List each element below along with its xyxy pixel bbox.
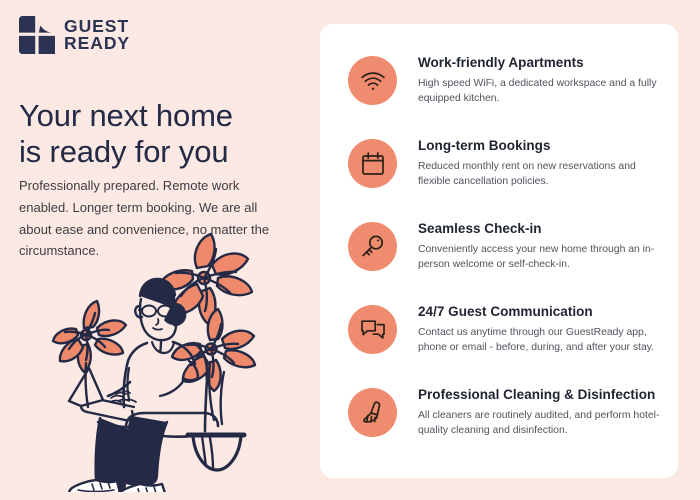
feature-item-work-friendly-apartments[interactable]: Work-friendly Apartments High speed WiFi… bbox=[348, 54, 660, 106]
wifi-icon bbox=[348, 56, 397, 105]
feature-title: 24/7 Guest Communication bbox=[418, 304, 660, 321]
feature-title: Long-term Bookings bbox=[418, 138, 660, 155]
left-column: GUEST READY Your next home is ready for … bbox=[0, 0, 320, 500]
headline-line-1: Your next home bbox=[19, 98, 233, 133]
woman-working-on-laptop-with-plants-illustration bbox=[34, 222, 319, 492]
feature-text: Long-term Bookings Reduced monthly rent … bbox=[418, 137, 660, 189]
feature-description: All cleaners are routinely audited, and … bbox=[418, 408, 666, 438]
feature-title: Work-friendly Apartments bbox=[418, 55, 660, 72]
feature-text: Work-friendly Apartments High speed WiFi… bbox=[418, 54, 660, 106]
feature-description: Contact us anytime through our GuestRead… bbox=[418, 325, 660, 355]
calendar-icon bbox=[348, 139, 397, 188]
brand-logo[interactable]: GUEST READY bbox=[19, 16, 130, 54]
feature-item-long-term-bookings[interactable]: Long-term Bookings Reduced monthly rent … bbox=[348, 137, 660, 189]
brand-wordmark: GUEST READY bbox=[64, 18, 130, 53]
promo-page: GUEST READY Your next home is ready for … bbox=[0, 0, 700, 500]
brand-line-2: READY bbox=[64, 35, 130, 53]
feature-description: High speed WiFi, a dedicated workspace a… bbox=[418, 76, 660, 106]
chat-bubbles-icon bbox=[348, 305, 397, 354]
feature-title: Seamless Check-in bbox=[418, 221, 660, 238]
feature-item-seamless-check-in[interactable]: Seamless Check-in Conveniently access yo… bbox=[348, 220, 660, 272]
feature-description: Conveniently access your new home throug… bbox=[418, 242, 660, 272]
feature-text: Seamless Check-in Conveniently access yo… bbox=[418, 220, 660, 272]
feature-title: Professional Cleaning & Disinfection bbox=[418, 387, 666, 404]
features-panel: Work-friendly Apartments High speed WiFi… bbox=[320, 24, 678, 478]
headline-line-2: is ready for you bbox=[19, 134, 307, 170]
broom-icon bbox=[348, 388, 397, 437]
feature-text: Professional Cleaning & Disinfection All… bbox=[418, 386, 666, 438]
feature-description: Reduced monthly rent on new reservations… bbox=[418, 159, 660, 189]
feature-item-guest-communication[interactable]: 24/7 Guest Communication Contact us anyt… bbox=[348, 303, 660, 355]
page-title: Your next home is ready for you bbox=[19, 98, 307, 171]
key-icon bbox=[348, 222, 397, 271]
guestready-quadrant-logo-icon bbox=[19, 16, 55, 54]
feature-item-professional-cleaning[interactable]: Professional Cleaning & Disinfection All… bbox=[348, 386, 666, 438]
feature-text: 24/7 Guest Communication Contact us anyt… bbox=[418, 303, 660, 355]
